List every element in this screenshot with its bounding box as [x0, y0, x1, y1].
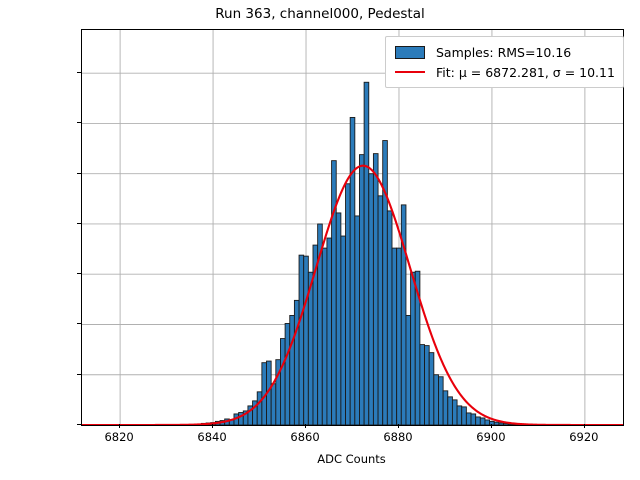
x-tick-mark: [119, 424, 120, 428]
x-tick-label: 6880: [363, 430, 433, 444]
legend-label-samples: Samples: RMS=10.16: [436, 45, 571, 60]
x-tick-label: 6920: [549, 430, 619, 444]
x-tick-mark: [491, 424, 492, 428]
x-tick-mark: [305, 424, 306, 428]
page-title: Run 363, channel000, Pedestal: [0, 6, 640, 22]
x-tick-mark: [584, 424, 585, 428]
y-tick-mark: [77, 424, 81, 425]
y-tick-mark: [77, 173, 81, 174]
x-tick-label: 6900: [456, 430, 526, 444]
plot-axes: [81, 29, 624, 426]
y-tick-mark: [77, 72, 81, 73]
matplotlib-figure: Run 363, channel000, Pedestal Entries AD…: [0, 0, 640, 480]
x-tick-label: 6840: [177, 430, 247, 444]
y-tick-mark: [77, 223, 81, 224]
y-tick-mark: [77, 323, 81, 324]
histogram-and-fit: [82, 30, 623, 425]
x-tick-label: 6860: [270, 430, 340, 444]
x-axis-label: ADC Counts: [81, 452, 622, 466]
chart-legend[interactable]: Samples: RMS=10.16 Fit: μ = 6872.281, σ …: [385, 36, 624, 88]
x-tick-mark: [398, 424, 399, 428]
y-tick-mark: [77, 273, 81, 274]
legend-item-fit[interactable]: Fit: μ = 6872.281, σ = 10.11: [393, 62, 615, 82]
x-tick-label: 6820: [84, 430, 154, 444]
y-tick-mark: [77, 122, 81, 123]
legend-line-icon: [393, 65, 427, 79]
legend-patch-icon: [393, 45, 427, 59]
legend-item-samples[interactable]: Samples: RMS=10.16: [393, 42, 615, 62]
x-tick-mark: [212, 424, 213, 428]
legend-label-fit: Fit: μ = 6872.281, σ = 10.11: [436, 65, 615, 80]
histogram-bars: [118, 82, 546, 425]
y-tick-mark: [77, 374, 81, 375]
